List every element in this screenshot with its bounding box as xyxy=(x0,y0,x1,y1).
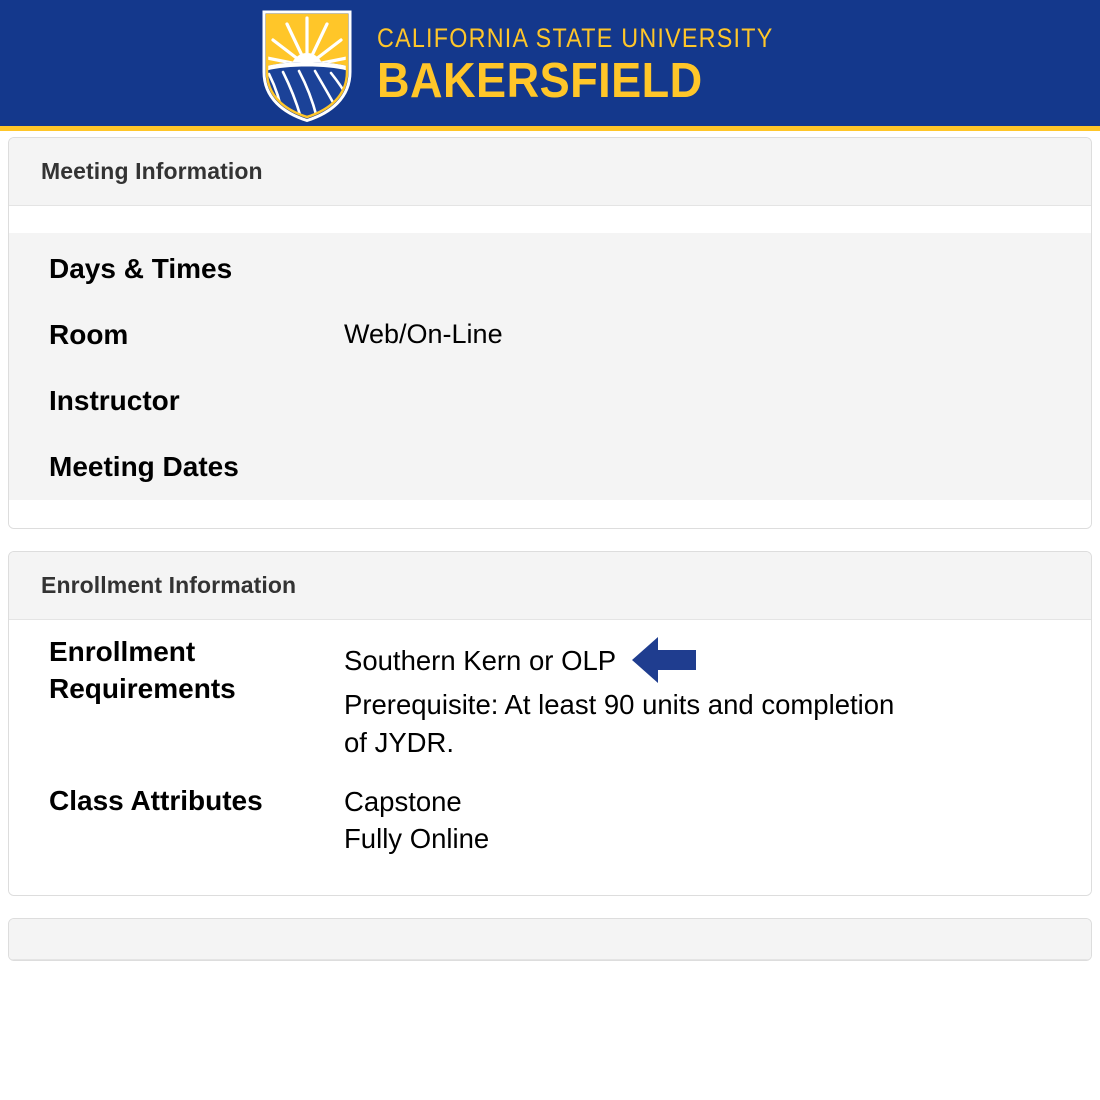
row-value-class-attributes: Capstone Fully Online xyxy=(344,783,1091,857)
panel-body-meeting-information: Days & Times Room Web/On-Line Instructor… xyxy=(9,233,1091,500)
value-line: Prerequisite: At least 90 units and comp… xyxy=(344,686,1091,723)
panel-title-meeting-information: Meeting Information xyxy=(41,158,263,184)
panel-enrollment-information: Enrollment Information Enrollment Requir… xyxy=(8,551,1092,896)
csub-wordmark: CALIFORNIA STATE UNIVERSITY BAKERSFIELD xyxy=(377,25,828,106)
row-value-days-times xyxy=(344,251,1091,252)
value-line: Capstone xyxy=(344,783,1091,820)
row-label-meeting-dates: Meeting Dates xyxy=(49,449,344,485)
row-label-room: Room xyxy=(49,317,344,353)
panel-meeting-information: Meeting Information Days & Times Room We… xyxy=(8,137,1092,529)
row-label-days-times: Days & Times xyxy=(49,251,344,287)
csub-shield-icon xyxy=(261,10,353,122)
panel-title-enrollment-information: Enrollment Information xyxy=(41,572,296,598)
panel-top-spacer xyxy=(9,206,1091,233)
csub-brand-lockup[interactable]: CALIFORNIA STATE UNIVERSITY BAKERSFIELD xyxy=(261,10,828,122)
value-line: Fully Online xyxy=(344,820,1091,857)
page-content: Meeting Information Days & Times Room We… xyxy=(0,131,1100,961)
panel-body-enrollment-information: Enrollment Requirements Southern Kern or… xyxy=(9,620,1091,867)
table-row: Days & Times xyxy=(9,251,1091,287)
row-label-instructor: Instructor xyxy=(49,383,344,419)
table-row: Meeting Dates xyxy=(9,449,1091,485)
row-value-meeting-dates xyxy=(344,449,1091,450)
value-line-with-annotation: Southern Kern or OLP xyxy=(344,634,1091,686)
wordmark-line-bakersfield: BAKERSFIELD xyxy=(377,57,792,106)
wordmark-line-university: CALIFORNIA STATE UNIVERSITY xyxy=(377,25,774,52)
panel-bottom-spacer xyxy=(9,500,1091,528)
row-value-room: Web/On-Line xyxy=(344,317,1091,353)
value-line: of JYDR. xyxy=(344,724,1091,761)
value-line: Southern Kern or OLP xyxy=(344,642,616,679)
row-label-class-attributes: Class Attributes xyxy=(49,783,344,820)
table-row: Instructor xyxy=(9,383,1091,419)
row-label-enrollment-requirements: Enrollment Requirements xyxy=(49,634,344,708)
value-line: Web/On-Line xyxy=(344,317,1091,353)
row-value-instructor xyxy=(344,383,1091,384)
panel-header-next-section xyxy=(9,919,1091,960)
table-row: Room Web/On-Line xyxy=(9,317,1091,353)
label-line: Enrollment xyxy=(49,634,344,671)
table-row: Class Attributes Capstone Fully Online xyxy=(9,783,1091,857)
panel-header-enrollment-information: Enrollment Information xyxy=(9,552,1091,620)
panel-header-meeting-information: Meeting Information xyxy=(9,138,1091,206)
row-value-enrollment-requirements: Southern Kern or OLP Prerequisite: At le… xyxy=(344,634,1091,760)
panel-bottom-spacer xyxy=(9,867,1091,895)
panel-next-section xyxy=(8,918,1092,961)
table-row: Enrollment Requirements Southern Kern or… xyxy=(9,634,1091,760)
left-arrow-icon xyxy=(630,634,700,686)
site-masthead: CALIFORNIA STATE UNIVERSITY BAKERSFIELD xyxy=(0,0,1100,131)
label-line: Requirements xyxy=(49,671,344,708)
